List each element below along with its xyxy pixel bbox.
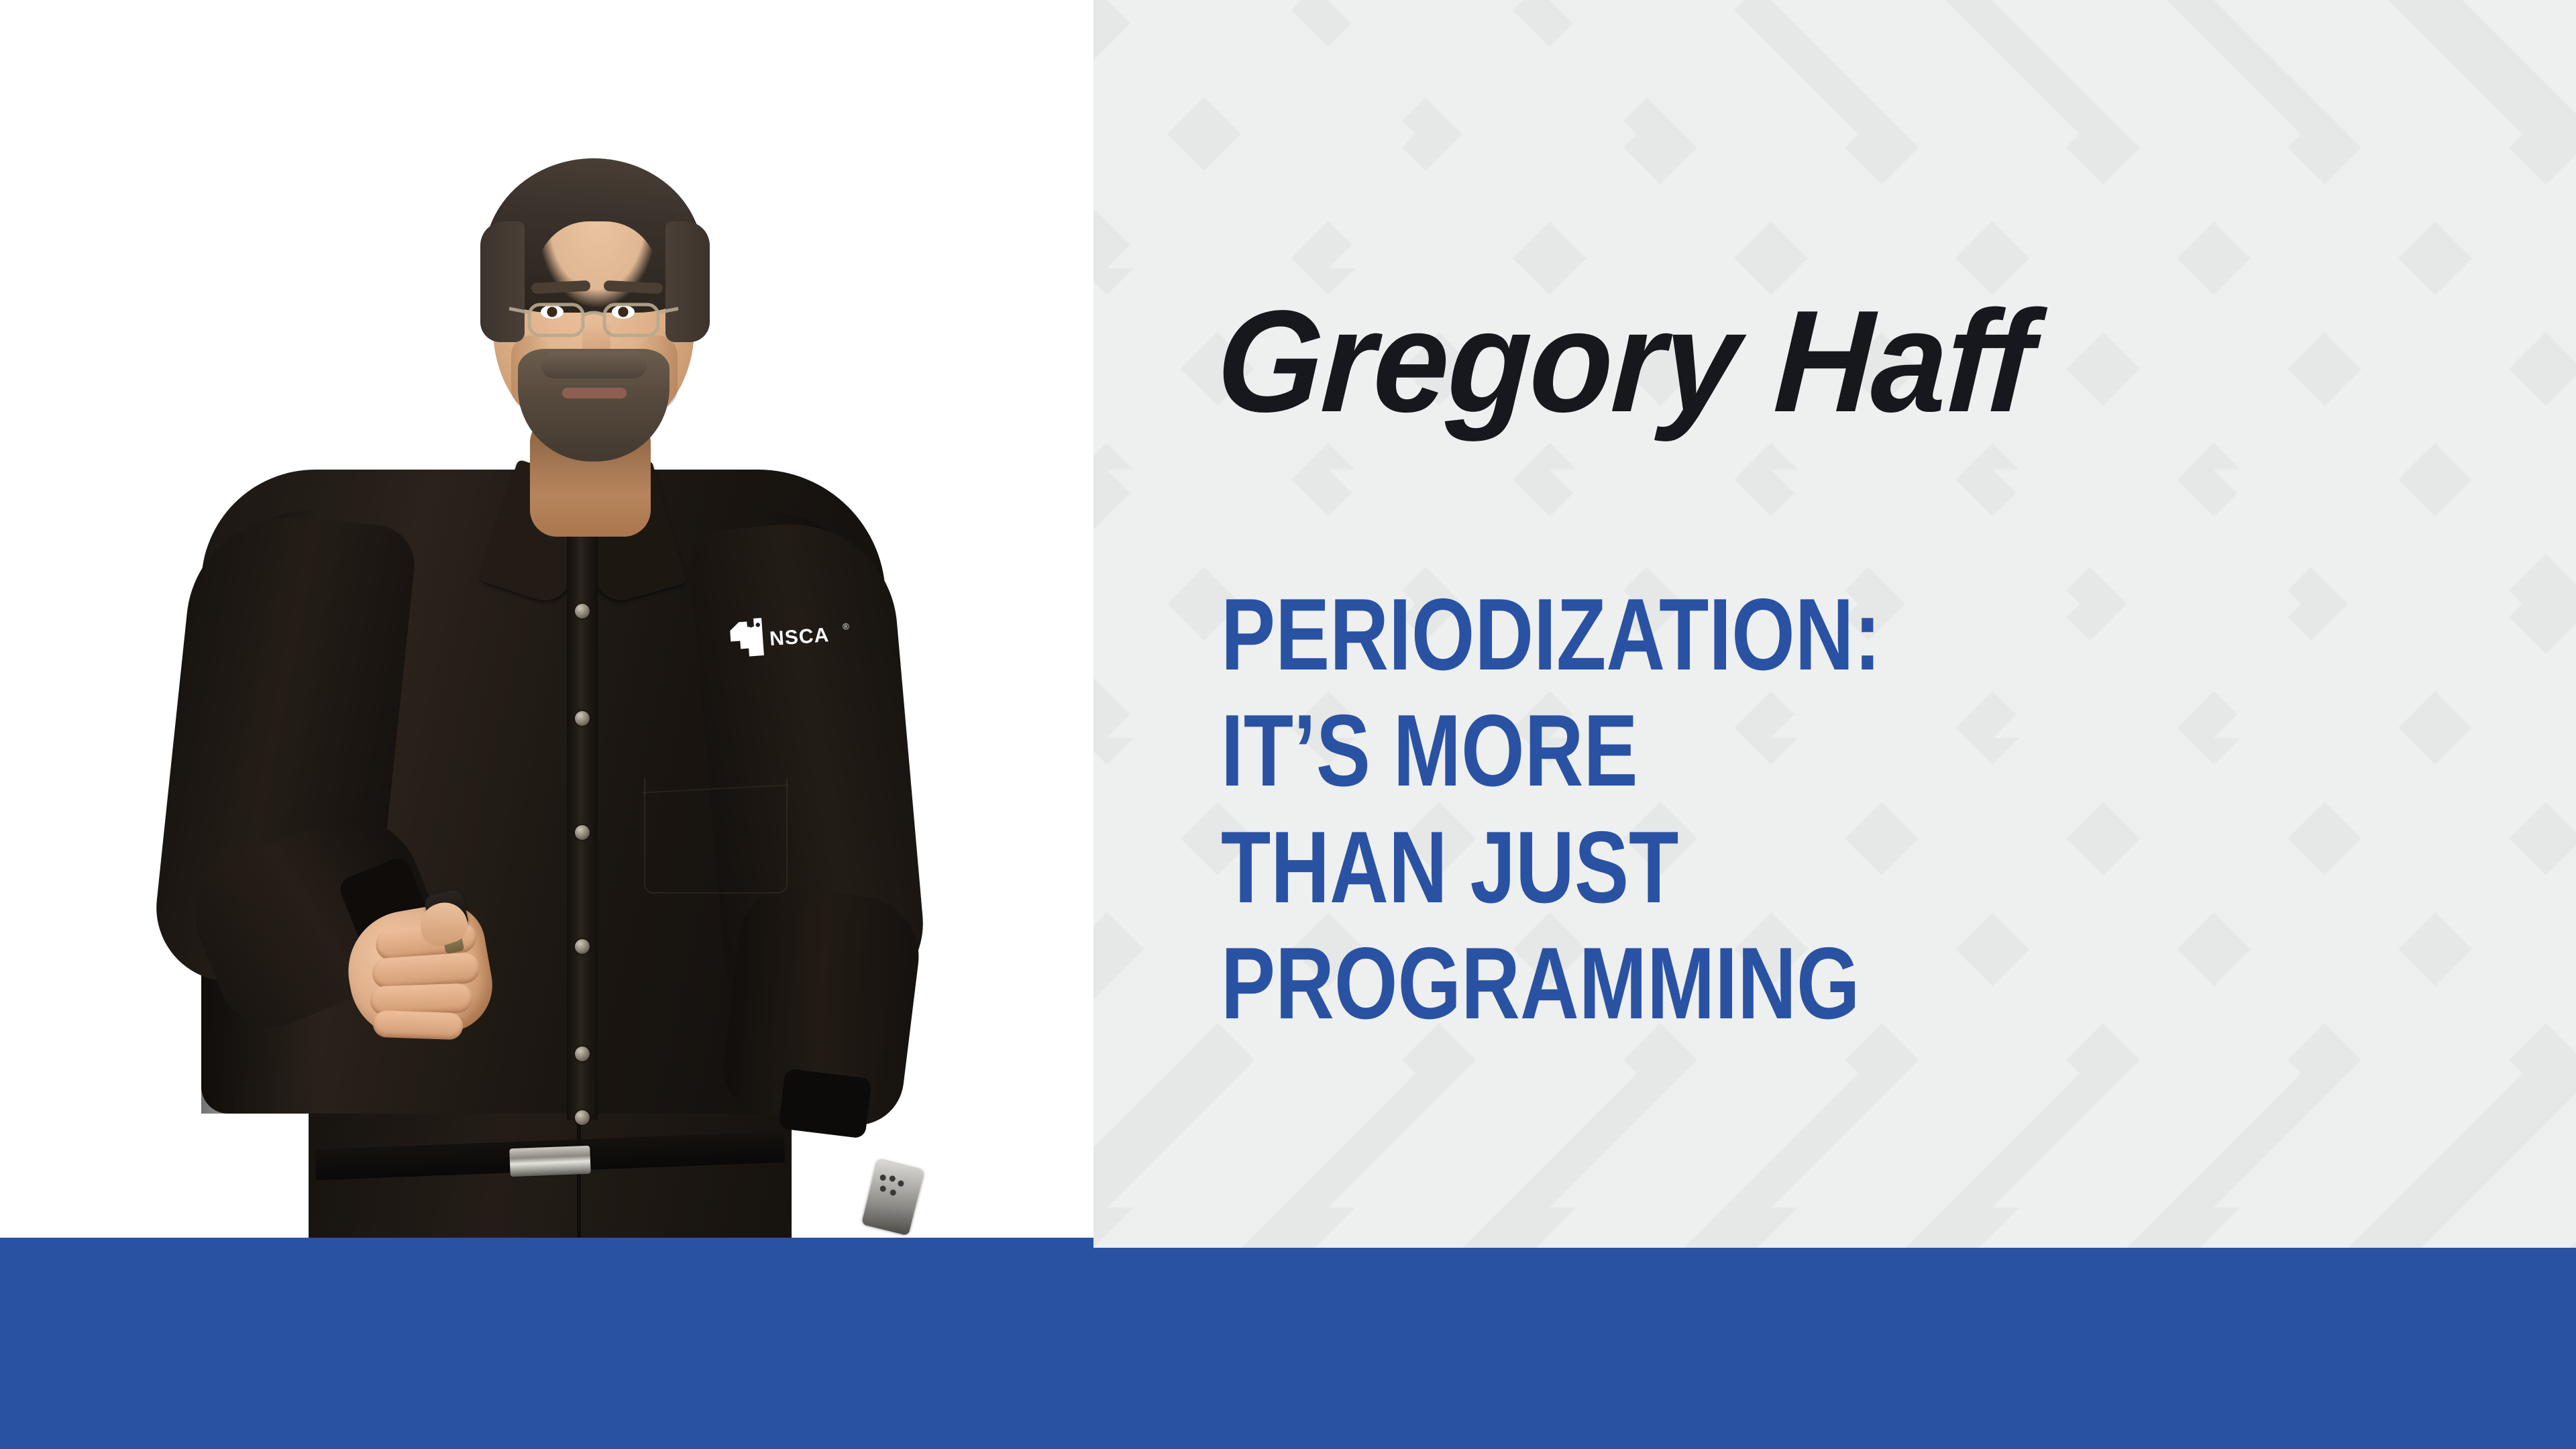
speaker-title-card: NSCA ® — [0, 0, 2576, 1449]
speaker-photo-panel: NSCA ® — [0, 0, 1093, 1449]
finger — [372, 1010, 463, 1040]
speaker-portrait: NSCA ® — [0, 0, 1093, 1261]
shirt-button — [575, 711, 590, 726]
svg-text:NSCA: NSCA — [769, 624, 830, 650]
shirt-cuff-right — [778, 1068, 872, 1138]
content-panel: Gregory Haff PERIODIZATION: IT’S MORE TH… — [1093, 0, 2576, 1449]
svg-text:®: ® — [843, 621, 850, 632]
nsca-logo-icon: NSCA ® — [726, 599, 857, 672]
talk-title-line-2: IT’S MORE — [1221, 693, 2284, 809]
bottom-accent-bar-left-step — [0, 1238, 1093, 1449]
mouth — [562, 388, 627, 398]
belt-buckle — [509, 1146, 591, 1177]
talk-title: PERIODIZATION: IT’S MORE THAN JUST PROGR… — [1221, 577, 2284, 1042]
talk-title-line-3: THAN JUST — [1221, 810, 2284, 926]
shirt-button — [575, 939, 590, 954]
talk-title-line-4: PROGRAMMING — [1221, 926, 2284, 1042]
speaker-name: Gregory Haff — [1214, 288, 2035, 433]
shirt-button — [575, 1046, 590, 1061]
moustache — [541, 352, 647, 378]
shirt-button — [575, 604, 590, 619]
shirt-button — [575, 1110, 590, 1125]
shirt-button — [575, 825, 590, 840]
shirt-pocket — [644, 778, 788, 894]
talk-title-line-1: PERIODIZATION: — [1221, 577, 2284, 693]
slide-text-block: Gregory Haff PERIODIZATION: IT’S MORE TH… — [1221, 0, 2576, 1449]
